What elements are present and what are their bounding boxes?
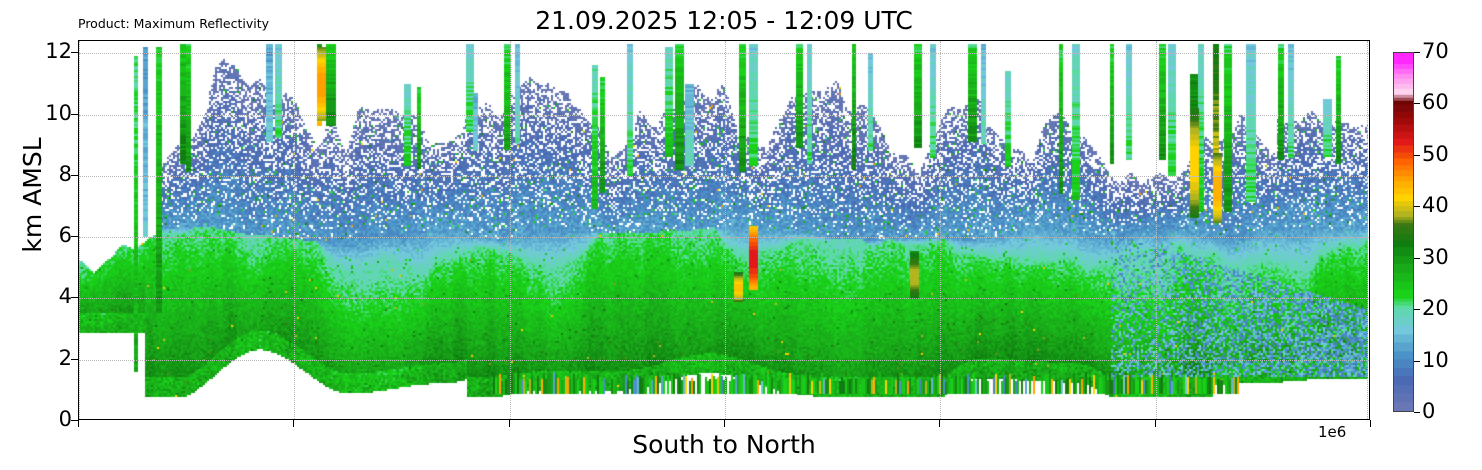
colorbar-tick-label: 0 — [1422, 401, 1435, 422]
colorbar-tick-mark — [1414, 412, 1420, 413]
y-tick-mark — [71, 236, 78, 237]
y-tick-label: 8 — [59, 164, 72, 185]
colorbar-tick-mark — [1414, 206, 1420, 207]
colorbar-tick-label: 70 — [1422, 41, 1449, 62]
y-tick-mark — [71, 359, 78, 360]
product-label: Product: Maximum Reflectivity — [78, 17, 269, 31]
colorbar-tick-label: 40 — [1422, 195, 1449, 216]
colorbar-tick-mark — [1414, 103, 1420, 104]
colorbar-tick-mark — [1414, 258, 1420, 259]
y-tick-label: 6 — [59, 225, 72, 246]
y-tick-label: 12 — [45, 41, 72, 62]
x-tick-mark — [78, 420, 79, 427]
x-tick-mark — [509, 420, 510, 427]
colorbar-tick-label: 50 — [1422, 144, 1449, 165]
colorbar-gradient — [1393, 52, 1414, 412]
colorbar-tick-mark — [1414, 52, 1420, 53]
x-tick-mark — [1155, 420, 1156, 427]
x-tick-mark — [293, 420, 294, 427]
colorbar[interactable] — [1393, 52, 1414, 412]
plot-area[interactable] — [78, 40, 1370, 420]
colorbar-tick-label: 30 — [1422, 247, 1449, 268]
y-tick-label: 10 — [45, 103, 72, 124]
colorbar-tick-mark — [1414, 361, 1420, 362]
y-tick-mark — [71, 114, 78, 115]
colorbar-tick-mark — [1414, 155, 1420, 156]
page-title: 21.09.2025 12:05 - 12:09 UTC — [78, 6, 1370, 36]
y-tick-mark — [71, 175, 78, 176]
colorbar-tick-label: 20 — [1422, 298, 1449, 319]
x-tick-mark — [724, 420, 725, 427]
y-axis-label: km AMSL — [20, 65, 46, 325]
y-tick-mark — [71, 52, 78, 53]
y-tick-mark — [71, 420, 78, 421]
x-tick-mark — [939, 420, 940, 427]
colorbar-tick-mark — [1414, 309, 1420, 310]
x-tick-mark — [1370, 420, 1371, 427]
y-tick-label: 2 — [59, 348, 72, 369]
colorbar-tick-label: 10 — [1422, 350, 1449, 371]
y-tick-mark — [71, 297, 78, 298]
y-tick-label: 4 — [59, 286, 72, 307]
radar-cross-section-figure: 21.09.2025 12:05 - 12:09 UTC Product: Ma… — [0, 0, 1482, 470]
x-axis-offset-text: 1e6 — [1318, 424, 1346, 441]
reflectivity-heatmap — [79, 41, 1368, 418]
y-tick-label: 0 — [59, 409, 72, 430]
colorbar-tick-label: 60 — [1422, 92, 1449, 113]
x-axis-label: South to North — [78, 430, 1370, 460]
